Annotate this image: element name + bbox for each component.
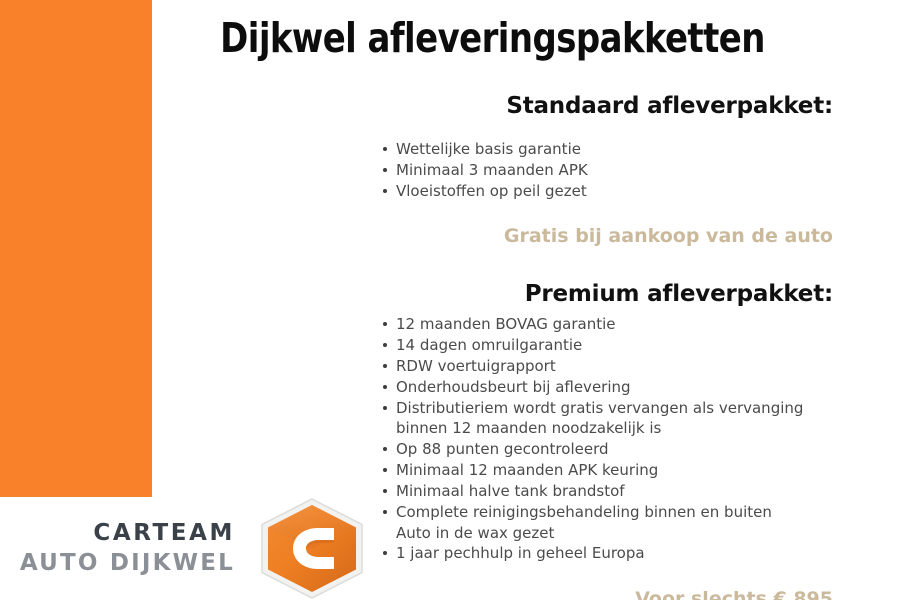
logo-wordmark: CARTEAM AUTO DIJKWEL <box>8 518 238 578</box>
list-item: RDW voertuigrapport <box>382 356 842 376</box>
standaard-promo-text: Gratis bij aankoop van de auto <box>504 224 833 248</box>
carteam-hexagon-c-logo-icon <box>256 497 368 600</box>
poster-canvas: Dijkwel afleveringspakketten Standaard a… <box>0 0 902 600</box>
premium-feature-list: 12 maanden BOVAG garantie14 dagen omruil… <box>382 314 842 564</box>
logo-wordmark-line-1: CARTEAM <box>8 518 238 548</box>
list-item: Vloeistoffen op peil gezet <box>382 181 842 201</box>
list-item: 1 jaar pechhulp in geheel Europa <box>382 543 842 563</box>
list-item: 14 dagen omruilgarantie <box>382 335 842 355</box>
list-item: Auto in de wax gezet <box>382 523 842 543</box>
orange-accent-bar <box>0 0 152 497</box>
standaard-section-heading: Standaard afleverpakket: <box>506 92 833 120</box>
list-item: Op 88 punten gecontroleerd <box>382 439 842 459</box>
premium-price-text: Voor slechts € 895 <box>635 587 833 600</box>
list-item: Complete reinigingsbehandeling binnen en… <box>382 502 842 522</box>
list-item: Distributieriem wordt gratis vervangen a… <box>382 398 842 439</box>
list-item: Minimaal 3 maanden APK <box>382 160 842 180</box>
list-item: Onderhoudsbeurt bij aflevering <box>382 377 842 397</box>
page-title: Dijkwel afleveringspakketten <box>179 14 806 62</box>
list-item: Minimaal 12 maanden APK keuring <box>382 460 842 480</box>
list-item: 12 maanden BOVAG garantie <box>382 314 842 334</box>
premium-section-heading: Premium afleverpakket: <box>525 280 833 308</box>
standaard-feature-list: Wettelijke basis garantieMinimaal 3 maan… <box>382 139 842 202</box>
list-item: Minimaal halve tank brandstof <box>382 481 842 501</box>
logo-wordmark-line-2: AUTO DIJKWEL <box>8 548 238 578</box>
list-item: Wettelijke basis garantie <box>382 139 842 159</box>
